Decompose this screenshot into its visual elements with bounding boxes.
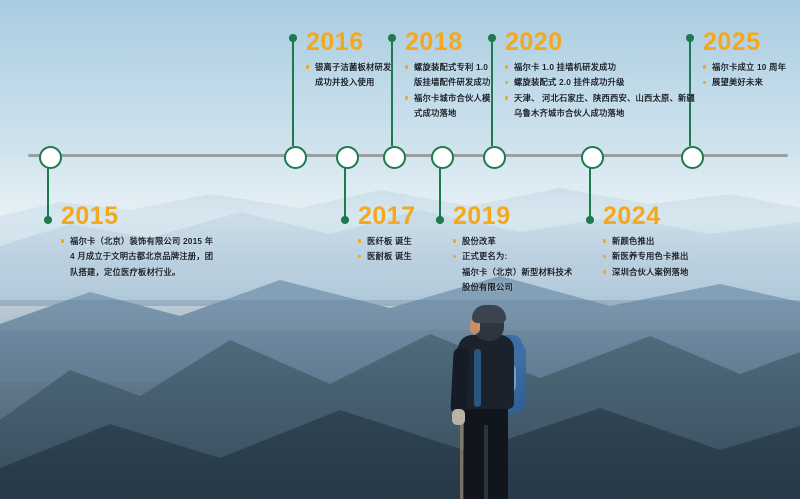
milestone-bullet: 福尔卡（北京）新型材料技术 — [453, 266, 572, 278]
milestone-bullet-list: 医纤板 诞生医耐板 诞生 — [358, 235, 416, 263]
stem-endpoint-dot — [289, 34, 296, 41]
milestone-bullet: 医耐板 诞生 — [358, 250, 416, 262]
milestone-2019[interactable]: 2019股份改革正式更名为:福尔卡（北京）新型材料技术股份有限公司 — [453, 204, 572, 297]
milestone-bullet: 医纤板 诞生 — [358, 235, 416, 247]
milestone-bullet: 乌鲁木齐城市合伙人成功落地 — [505, 107, 695, 119]
milestone-2017[interactable]: 2017医纤板 诞生医耐板 诞生 — [358, 204, 416, 266]
milestone-bullet: 福尔卡 1.0 挂墙机研发成功 — [505, 61, 695, 73]
milestone-bullet-list: 福尔卡成立 10 周年展望美好未来 — [703, 61, 786, 89]
milestone-bullet: 正式更名为: — [453, 250, 572, 262]
backpack-strap — [474, 349, 481, 407]
milestone-bullet: 天津、 河北石家庄、陕西西安、山西太原、新疆 — [505, 92, 695, 104]
milestone-bullet-list: 福尔卡 1.0 挂墙机研发成功螺旋装配式 2.0 挂件成功升级天津、 河北石家庄… — [505, 61, 695, 120]
timeline-stem-2019 — [439, 164, 442, 220]
milestone-bullet: 股份有限公司 — [453, 281, 572, 293]
milestone-year-label: 2015 — [61, 204, 213, 229]
milestone-bullet: 福尔卡（北京）装饰有限公司 2015 年 — [61, 235, 213, 247]
milestone-bullet: 版挂墙配件研发成功 — [405, 76, 490, 88]
timeline-stem-2016 — [292, 38, 295, 146]
milestone-bullet-list: 银离子洁菌板材研发成功并投入使用 — [306, 61, 391, 89]
hiker-hand — [452, 409, 465, 425]
milestone-bullet: 深圳合伙人案例落地 — [603, 266, 688, 278]
milestone-bullet: 新颜色推出 — [603, 235, 688, 247]
milestone-bullet: 福尔卡成立 10 周年 — [703, 61, 786, 73]
milestone-bullet: 式成功落地 — [405, 107, 490, 119]
milestone-bullet: 福尔卡城市合伙人模 — [405, 92, 490, 104]
timeline-stem-2015 — [47, 164, 50, 220]
hiker-leg-gap — [484, 425, 488, 499]
timeline-node-2019[interactable] — [431, 146, 454, 169]
milestone-bullet-list: 福尔卡（北京）装饰有限公司 2015 年4 月成立于文明古都北京品牌注册，团队搭… — [61, 235, 213, 278]
milestone-year-label: 2025 — [703, 30, 786, 55]
milestone-2024[interactable]: 2024新颜色推出新医养专用色卡推出深圳合伙人案例落地 — [603, 204, 688, 281]
stem-endpoint-dot — [341, 216, 348, 223]
timeline-node-2020[interactable] — [483, 146, 506, 169]
milestone-bullet: 新医养专用色卡推出 — [603, 250, 688, 262]
milestone-year-label: 2024 — [603, 204, 688, 229]
timeline-node-2015[interactable] — [39, 146, 62, 169]
timeline-axis — [28, 154, 788, 157]
milestone-year-label: 2016 — [306, 30, 391, 55]
stem-endpoint-dot — [44, 216, 51, 223]
milestone-2015[interactable]: 2015福尔卡（北京）装饰有限公司 2015 年4 月成立于文明古都北京品牌注册… — [61, 204, 213, 281]
milestone-bullet: 成功并投入使用 — [306, 76, 391, 88]
milestone-year-label: 2017 — [358, 204, 416, 229]
stem-endpoint-dot — [436, 216, 443, 223]
milestone-bullet: 股份改革 — [453, 235, 572, 247]
milestone-2025[interactable]: 2025福尔卡成立 10 周年展望美好未来 — [703, 30, 786, 92]
milestone-2016[interactable]: 2016银离子洁菌板材研发成功并投入使用 — [306, 30, 391, 92]
milestone-year-label: 2019 — [453, 204, 572, 229]
milestone-bullet: 螺旋装配式专利 1.0 — [405, 61, 490, 73]
timeline-stem-2017 — [344, 164, 347, 220]
milestone-2020[interactable]: 2020福尔卡 1.0 挂墙机研发成功螺旋装配式 2.0 挂件成功升级天津、 河… — [505, 30, 695, 123]
hiker-figure — [430, 305, 550, 499]
milestone-bullet: 展望美好未来 — [703, 76, 786, 88]
timeline-node-2024[interactable] — [581, 146, 604, 169]
milestone-2018[interactable]: 2018螺旋装配式专利 1.0版挂墙配件研发成功福尔卡城市合伙人模式成功落地 — [405, 30, 490, 123]
timeline-node-2017[interactable] — [336, 146, 359, 169]
milestone-year-label: 2018 — [405, 30, 490, 55]
timeline-stem-2020 — [491, 38, 494, 146]
timeline-node-2018[interactable] — [383, 146, 406, 169]
milestone-bullet: 4 月成立于文明古都北京品牌注册，团 — [61, 250, 213, 262]
timeline-infographic: 2015福尔卡（北京）装饰有限公司 2015 年4 月成立于文明古都北京品牌注册… — [0, 0, 800, 499]
milestone-bullet-list: 股份改革正式更名为:福尔卡（北京）新型材料技术股份有限公司 — [453, 235, 572, 294]
trekking-pole-icon — [460, 417, 463, 499]
stem-endpoint-dot — [586, 216, 593, 223]
milestone-bullet: 螺旋装配式 2.0 挂件成功升级 — [505, 76, 695, 88]
milestone-bullet-list: 螺旋装配式专利 1.0版挂墙配件研发成功福尔卡城市合伙人模式成功落地 — [405, 61, 490, 120]
milestone-bullet: 队搭建，定位医疗板材行业。 — [61, 266, 213, 278]
foreground-shadow — [0, 300, 800, 499]
hiker-hat-icon — [472, 305, 506, 323]
timeline-stem-2024 — [589, 164, 592, 220]
timeline-node-2025[interactable] — [681, 146, 704, 169]
milestone-bullet: 银离子洁菌板材研发 — [306, 61, 391, 73]
milestone-year-label: 2020 — [505, 30, 695, 55]
milestone-bullet-list: 新颜色推出新医养专用色卡推出深圳合伙人案例落地 — [603, 235, 688, 278]
timeline-node-2016[interactable] — [284, 146, 307, 169]
